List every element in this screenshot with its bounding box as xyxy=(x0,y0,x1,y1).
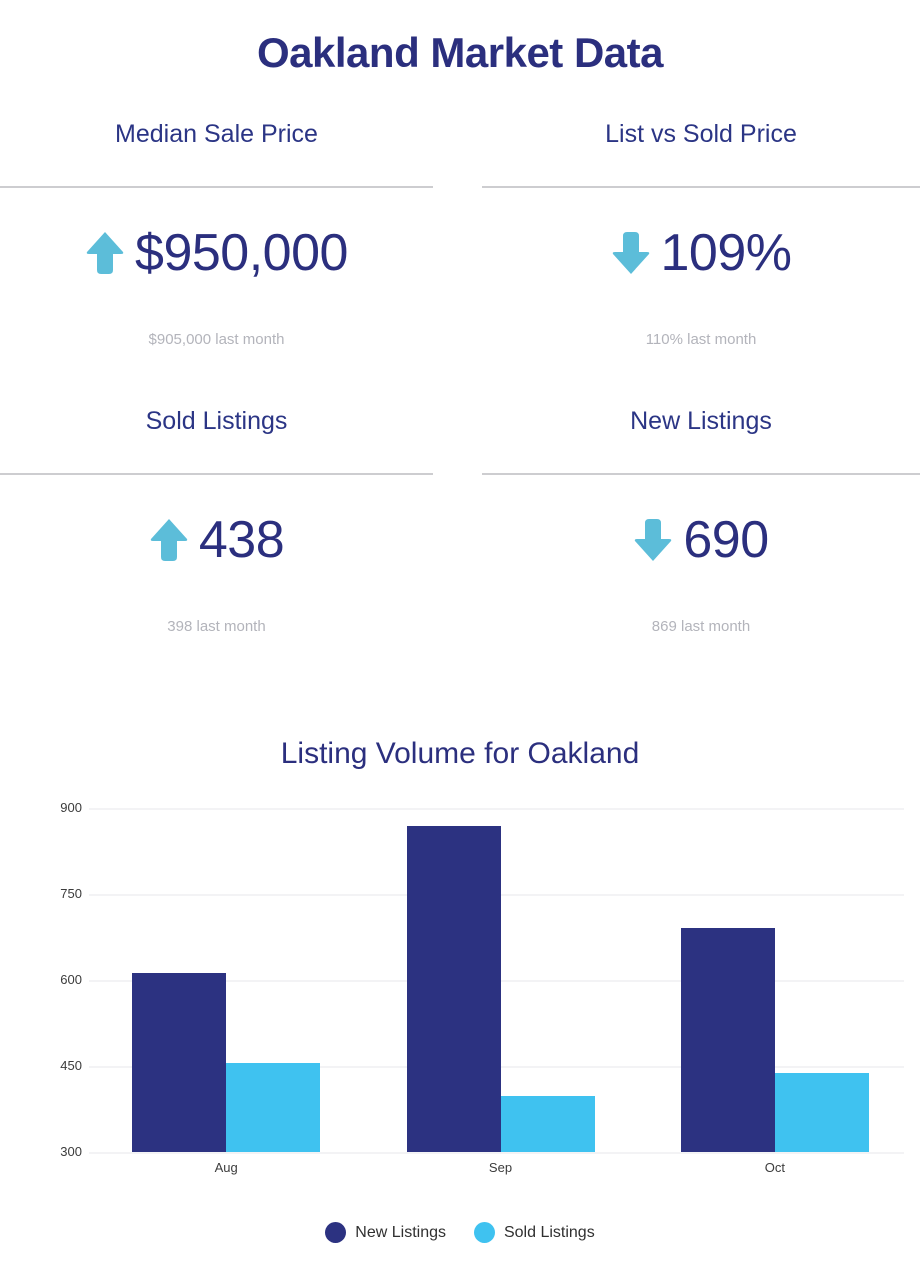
arrow-down-icon xyxy=(611,230,651,276)
bars-layer xyxy=(89,808,904,1152)
y-tick-label: 450 xyxy=(22,1059,82,1073)
bar-sep-sold-listings xyxy=(501,1096,595,1152)
chart-title: Listing Volume for Oakland xyxy=(0,734,920,774)
stat-label: New Listings xyxy=(482,403,920,437)
stat-value: 109% xyxy=(661,223,792,283)
stat-value-row: 690 xyxy=(482,497,920,583)
y-tick-label: 900 xyxy=(22,801,82,815)
bar-oct-sold-listings xyxy=(775,1073,869,1152)
arrow-up-icon xyxy=(149,517,189,563)
plot-wrap: 900750600450300 AugSepOct xyxy=(0,800,912,1200)
page-title: Oakland Market Data xyxy=(0,0,920,78)
bar-sep-new-listings xyxy=(407,826,501,1152)
stat-sub: 398 last month xyxy=(0,617,433,637)
stat-value-row: $950,000 xyxy=(0,210,433,296)
stat-divider xyxy=(482,186,920,188)
stat-sub: 110% last month xyxy=(482,330,920,350)
legend-swatch-icon xyxy=(474,1222,495,1243)
gridline xyxy=(89,1152,904,1154)
stat-value: 690 xyxy=(683,510,768,570)
market-data-page: Oakland Market Data Median Sale Price $9… xyxy=(0,0,920,1262)
stat-card-median-sale-price: Median Sale Price $950,000 $905,000 last… xyxy=(0,116,460,403)
stat-sub: $905,000 last month xyxy=(0,330,433,350)
y-tick-label: 750 xyxy=(22,887,82,901)
stat-divider xyxy=(482,473,920,475)
stat-label: List vs Sold Price xyxy=(482,116,920,150)
stat-card-new-listings: New Listings 690 869 last month xyxy=(460,403,920,690)
y-tick-label: 600 xyxy=(22,973,82,987)
stat-value-row: 109% xyxy=(482,210,920,296)
y-tick-label: 300 xyxy=(22,1145,82,1159)
bar-aug-sold-listings xyxy=(226,1063,320,1152)
arrow-down-icon xyxy=(633,517,673,563)
stat-value-row: 438 xyxy=(0,497,433,583)
bar-aug-new-listings xyxy=(132,973,226,1152)
x-axis-labels: AugSepOct xyxy=(89,1160,904,1180)
stats-grid: Median Sale Price $950,000 $905,000 last… xyxy=(0,116,920,690)
legend-swatch-icon xyxy=(325,1222,346,1243)
stat-label: Median Sale Price xyxy=(0,116,433,150)
x-axis-label: Oct xyxy=(765,1160,785,1176)
legend-label: New Listings xyxy=(355,1223,446,1243)
arrow-up-icon xyxy=(85,230,125,276)
stat-card-sold-listings: Sold Listings 438 398 last month xyxy=(0,403,460,690)
stat-sub: 869 last month xyxy=(482,617,920,637)
legend-item-sold-listings[interactable]: Sold Listings xyxy=(474,1222,595,1243)
stat-value: $950,000 xyxy=(135,223,348,283)
x-axis-label: Aug xyxy=(215,1160,238,1176)
listing-volume-chart: Listing Volume for Oakland 9007506004503… xyxy=(0,734,920,1243)
stat-divider xyxy=(0,186,433,188)
stat-value: 438 xyxy=(199,510,284,570)
stat-label: Sold Listings xyxy=(0,403,433,437)
chart-legend: New ListingsSold Listings xyxy=(0,1222,920,1243)
legend-item-new-listings[interactable]: New Listings xyxy=(325,1222,446,1243)
stat-card-list-vs-sold-price: List vs Sold Price 109% 110% last month xyxy=(460,116,920,403)
bar-oct-new-listings xyxy=(681,928,775,1152)
legend-label: Sold Listings xyxy=(504,1223,595,1243)
x-axis-label: Sep xyxy=(489,1160,512,1176)
plot-area xyxy=(89,808,904,1152)
stat-divider xyxy=(0,473,433,475)
